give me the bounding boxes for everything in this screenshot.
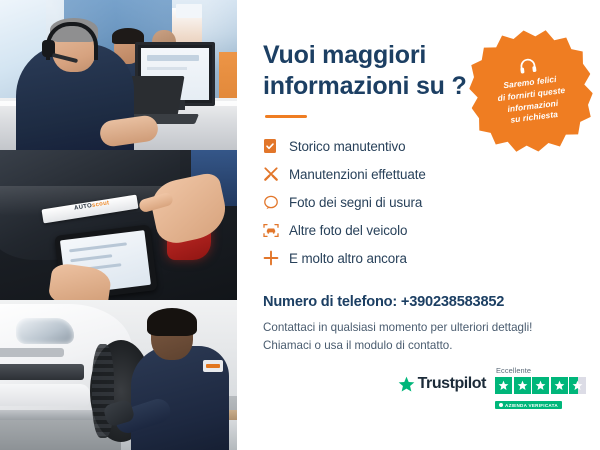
headset-icon — [518, 57, 538, 75]
phone-number[interactable]: +390238583852 — [401, 294, 504, 310]
star-filled — [551, 377, 568, 394]
contact-subtext-line-2: Chiamaci o usa il modulo di contatto. — [263, 337, 574, 355]
trustpilot-logo: Trustpilot — [398, 366, 486, 393]
badge-content: Saremo felici di fornirti queste informa… — [481, 53, 580, 129]
plus-icon — [263, 248, 289, 268]
mechanic-wheel-garage-photo — [0, 300, 237, 450]
trustpilot-widget[interactable]: Trustpilot Eccellente — [398, 366, 586, 412]
car-upper-grille — [0, 348, 64, 357]
feature-label: Foto dei segni di usura — [289, 195, 422, 210]
checklist-document-icon — [263, 136, 289, 156]
list-item: Altre foto del veicolo — [263, 216, 574, 244]
content-panel: Vuoi maggiori informazioni su ? Saremo f… — [237, 0, 600, 450]
banner-label — [176, 4, 202, 18]
promo-card: AUTOscout — [0, 0, 600, 450]
screen-toolbar — [147, 55, 199, 61]
star-filled — [514, 377, 531, 394]
rating-caption: Eccellente — [496, 366, 586, 375]
list-item: Foto dei segni di usura — [263, 188, 574, 216]
contact-subtext: Contattaci in qualsiasi momento per ulte… — [263, 319, 574, 355]
car-inspection-tablet-photo: AUTOscout — [0, 150, 237, 300]
feature-label: E molto altro ancora — [289, 251, 407, 266]
trustpilot-wordmark: Trustpilot — [418, 375, 486, 393]
feature-label: Manutenzioni effettuate — [289, 167, 426, 182]
car-lower-grille — [0, 364, 84, 380]
call-center-agents-photo — [0, 0, 237, 150]
page-title: Vuoi maggiori informazioni su ? — [263, 40, 478, 101]
car-headlight — [16, 318, 74, 344]
photo-column: AUTOscout — [0, 0, 237, 450]
car-bumper — [0, 384, 90, 406]
car-frame-icon — [263, 220, 289, 240]
star-filled — [532, 377, 549, 394]
star-filled — [495, 377, 512, 394]
feature-list: Storico manutentivo Manutenzioni effettu… — [263, 132, 574, 272]
star-half — [569, 377, 586, 394]
phone-line: Numero di telefono: +390238583852 — [263, 294, 574, 310]
feature-label: Storico manutentivo — [289, 139, 405, 154]
title-underline-divider — [265, 115, 307, 118]
feature-label: Altre foto del veicolo — [289, 223, 407, 238]
contact-subtext-line-1: Contattaci in qualsiasi momento per ulte… — [263, 319, 574, 337]
list-item: Manutenzioni effettuate — [263, 160, 574, 188]
trustpilot-rating: Eccellente — [495, 366, 586, 412]
screen-row — [147, 67, 187, 70]
status-badge: AZIENDA VERIFICATA — [495, 401, 562, 409]
tablet-line — [69, 242, 127, 252]
phone-label: Numero di telefono: — [263, 294, 397, 310]
verified-check-icon — [499, 403, 503, 407]
mechanic-hair — [147, 308, 197, 336]
crossed-tools-icon — [263, 164, 289, 184]
speech-bubble-icon — [263, 192, 289, 212]
star-rating — [495, 377, 586, 394]
uniform-logo-badge — [203, 360, 223, 372]
verified-label: AZIENDA VERIFICATA — [505, 403, 558, 408]
callout-badge: Saremo felici di fornirti queste informa… — [463, 23, 599, 159]
trustpilot-star-icon — [398, 376, 415, 393]
tablet-line — [70, 254, 112, 262]
list-item: E molto altro ancora — [263, 244, 574, 272]
